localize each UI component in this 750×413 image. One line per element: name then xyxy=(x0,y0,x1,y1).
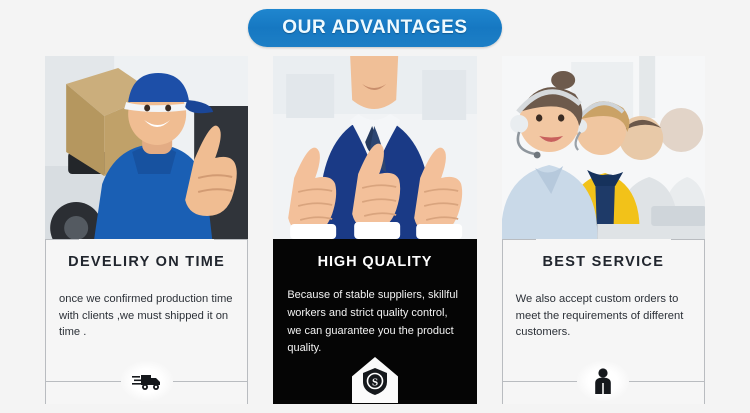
rule-left xyxy=(502,381,578,382)
businessman-thumbs-up-photo xyxy=(273,56,476,239)
shield-badge-icon: S xyxy=(349,361,401,401)
delivery-man-photo xyxy=(45,56,248,239)
card-body-delivery-on-time: DEVELIRY ON TIME once we confirmed produ… xyxy=(45,239,248,404)
advantage-card-high-quality[interactable]: HIGH QUALITY Because of stable suppliers… xyxy=(273,56,476,404)
card-description: once we confirmed production time with c… xyxy=(59,291,234,341)
our-advantages-banner: OUR ADVANTAGES xyxy=(248,9,501,47)
card-description: Because of stable suppliers, skillful wo… xyxy=(287,287,462,358)
advantage-card-best-service[interactable]: BEST SERVICE We also accept custom order… xyxy=(502,56,705,404)
banner-title: OUR ADVANTAGES xyxy=(282,18,467,37)
card-body-best-service: BEST SERVICE We also accept custom order… xyxy=(502,239,705,404)
customer-service-team-photo xyxy=(502,56,705,239)
card-description: We also accept custom orders to meet the… xyxy=(516,291,691,341)
panel-left-edge xyxy=(45,239,46,404)
panel-right-edge xyxy=(247,239,248,404)
card-title: HIGH QUALITY xyxy=(287,255,462,271)
rule-right xyxy=(629,381,705,382)
advantage-cards-row: DEVELIRY ON TIME once we confirmed produ… xyxy=(0,56,750,404)
card-title: DEVELIRY ON TIME xyxy=(59,255,234,271)
svg-text:S: S xyxy=(372,376,378,388)
delivery-truck-icon xyxy=(121,361,173,401)
panel-right-edge xyxy=(704,239,705,404)
rule-left xyxy=(45,381,121,382)
advantage-card-delivery-on-time[interactable]: DEVELIRY ON TIME once we confirmed produ… xyxy=(45,56,248,404)
panel-left-edge xyxy=(502,239,503,404)
customer-person-icon xyxy=(577,361,629,401)
rule-right xyxy=(173,381,249,382)
banner-container: OUR ADVANTAGES xyxy=(0,0,750,56)
card-title: BEST SERVICE xyxy=(516,255,691,271)
card-body-high-quality: HIGH QUALITY Because of stable suppliers… xyxy=(273,239,476,404)
